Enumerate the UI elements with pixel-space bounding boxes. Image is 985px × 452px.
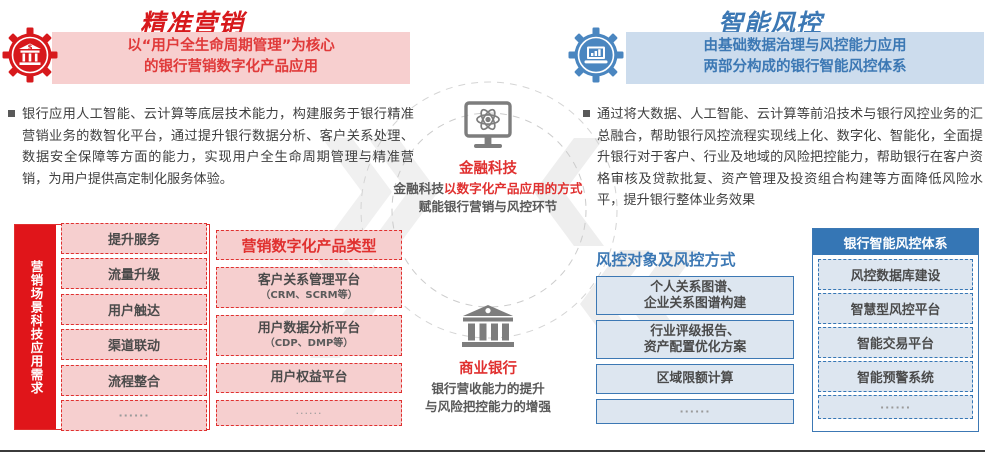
list-item[interactable]: 区域限额计算 <box>596 364 794 394</box>
list-item[interactable]: 流量升级 <box>61 258 207 289</box>
marketing-scene-group: 营销场景科技应用需求 提升服务 流量升级 用户触达 渠道联动 流程整合 ····… <box>14 224 210 430</box>
risk-object-group: 风控对象及风控方式 个人关系图谱、 企业关系图谱构建 行业评级报告、 资产配置优… <box>596 248 794 424</box>
list-item[interactable]: 提升服务 <box>61 223 207 254</box>
marketing-scene-chip-list: 提升服务 流量升级 用户触达 渠道联动 流程整合 ······ <box>61 223 207 431</box>
right-bullet-text: 通过将大数据、人工智能、云计算等前沿技术与银行风控业务的汇总融合，帮助银行风控流… <box>597 104 983 212</box>
infographic-root: 精准营销 以“用户全生命周期管理”为核心 的银行营销数字化产品应用 <box>0 0 985 452</box>
left-banner-line2: 的银行营销数字化产品应用 <box>52 57 410 78</box>
list-item[interactable]: 智慧型风控平台 <box>818 293 973 324</box>
list-item[interactable]: 用户触达 <box>61 294 207 325</box>
list-item[interactable]: 用户权益平台 <box>216 363 402 393</box>
list-item-subtitle: （CRM、SCRM等） <box>260 289 357 302</box>
bank-body-line1: 银行营收能力的提升 <box>390 380 586 398</box>
right-banner-text: 由基础数据治理与风控能力应用 两部分构成的银行智能风控体系 <box>626 36 984 78</box>
gear-bank-icon-svg: $ <box>2 27 58 83</box>
list-item-line2: 资产配置优化方案 <box>644 340 746 356</box>
list-item-title: 用户权益平台 <box>271 370 348 386</box>
bank-risk-system-header: 银行智能风控体系 <box>813 229 978 255</box>
right-bullet-row: 通过将大数据、人工智能、云计算等前沿技术与银行风控业务的汇总融合，帮助银行风控流… <box>583 104 983 212</box>
list-item-title: 用户数据分析平台 <box>258 321 360 337</box>
right-banner-line2: 两部分构成的银行智能风控体系 <box>626 57 984 78</box>
commercial-bank-block: 商业银行 银行营收能力的提升 与风险把控能力的增强 <box>390 300 586 415</box>
list-item-more[interactable]: ······ <box>61 400 207 431</box>
list-item-line1: 行业评级报告、 <box>650 324 740 340</box>
bank-heading: 商业银行 <box>390 357 586 378</box>
risk-object-title: 风控对象及风控方式 <box>596 248 794 270</box>
list-item-more[interactable]: ······ <box>596 399 794 424</box>
list-item-line2: 企业关系图谱构建 <box>644 296 746 312</box>
left-bullet-text: 银行应用人工智能、云计算等底层技术能力，构建服务于银行精准营销业务的数智化平台，… <box>22 104 414 190</box>
bullet-square-icon <box>8 110 15 117</box>
list-item-line1: 区域限额计算 <box>657 371 734 387</box>
risk-object-list: 个人关系图谱、 企业关系图谱构建 行业评级报告、 资产配置优化方案 区域限额计算… <box>596 276 794 424</box>
bank-risk-system-list: 风控数据库建设 智慧型风控平台 智能交易平台 智能预警系统 ······ <box>813 255 978 423</box>
bullet-square-icon <box>583 110 590 117</box>
right-banner: 由基础数据治理与风控能力应用 两部分构成的银行智能风控体系 <box>626 32 984 84</box>
list-item-title: 客户关系管理平台 <box>258 273 360 289</box>
list-item[interactable]: 渠道联动 <box>61 329 207 360</box>
list-item[interactable]: 风控数据库建设 <box>818 259 973 290</box>
bank-body-line2: 与风险把控能力的增强 <box>390 398 586 416</box>
fintech-body: 金融科技以数字化产品应用的方式赋能银行营销与风控环节 <box>390 180 586 215</box>
fintech-body-highlight: 以数字化产品应用的方式 <box>444 181 583 196</box>
bank-risk-system-group: 银行智能风控体系 风控数据库建设 智慧型风控平台 智能交易平台 智能预警系统 ·… <box>812 228 979 432</box>
gear-laptop-chart-icon <box>568 27 624 83</box>
list-item-subtitle: （CDP、DMP等） <box>265 337 354 350</box>
right-banner-line1: 由基础数据治理与风控能力应用 <box>626 36 984 57</box>
list-item[interactable]: 个人关系图谱、 企业关系图谱构建 <box>596 276 794 315</box>
fintech-block: 金融科技 金融科技以数字化产品应用的方式赋能银行营销与风控环节 <box>390 100 586 215</box>
monitor-atom-icon-svg <box>459 101 517 155</box>
list-item[interactable]: 智能交易平台 <box>818 327 973 358</box>
left-banner: 以“用户全生命周期管理”为核心 的银行营销数字化产品应用 <box>52 32 410 84</box>
list-item[interactable]: 行业评级报告、 资产配置优化方案 <box>596 320 794 359</box>
list-item-line1: 个人关系图谱、 <box>650 280 740 296</box>
bank-columns-icon <box>390 300 586 356</box>
svg-text:$: $ <box>28 43 33 51</box>
marketing-scene-vertical-label: 营销场景科技应用需求 <box>15 225 56 429</box>
left-bullet-row: 银行应用人工智能、云计算等底层技术能力，构建服务于银行精准营销业务的数智化平台，… <box>8 104 414 190</box>
product-type-header-label: 营销数字化产品类型 <box>241 235 376 256</box>
list-item-more[interactable]: ······ <box>216 400 402 426</box>
fintech-heading: 金融科技 <box>390 157 586 178</box>
list-item[interactable]: 流程整合 <box>61 365 207 396</box>
bank-body: 银行营收能力的提升 与风险把控能力的增强 <box>390 380 586 415</box>
fintech-body-pre: 金融科技 <box>394 181 444 196</box>
marketing-product-type-group: 营销数字化产品类型 客户关系管理平台 （CRM、SCRM等） 用户数据分析平台 … <box>216 230 402 426</box>
gear-bank-icon: $ <box>2 27 58 83</box>
monitor-atom-icon <box>390 100 586 156</box>
gear-laptop-chart-icon-svg <box>568 27 624 83</box>
bank-columns-icon-svg <box>460 303 516 353</box>
product-type-header: 营销数字化产品类型 <box>216 230 402 260</box>
fintech-body-post: 赋能银行营销与风控环节 <box>419 199 558 214</box>
left-banner-line1: 以“用户全生命周期管理”为核心 <box>52 36 410 57</box>
list-item[interactable]: 用户数据分析平台 （CDP、DMP等） <box>216 315 402 356</box>
list-item[interactable]: 智能预警系统 <box>818 361 973 392</box>
list-item-more[interactable]: ······ <box>818 395 973 419</box>
left-banner-text: 以“用户全生命周期管理”为核心 的银行营销数字化产品应用 <box>52 36 410 78</box>
list-item[interactable]: 客户关系管理平台 （CRM、SCRM等） <box>216 267 402 308</box>
